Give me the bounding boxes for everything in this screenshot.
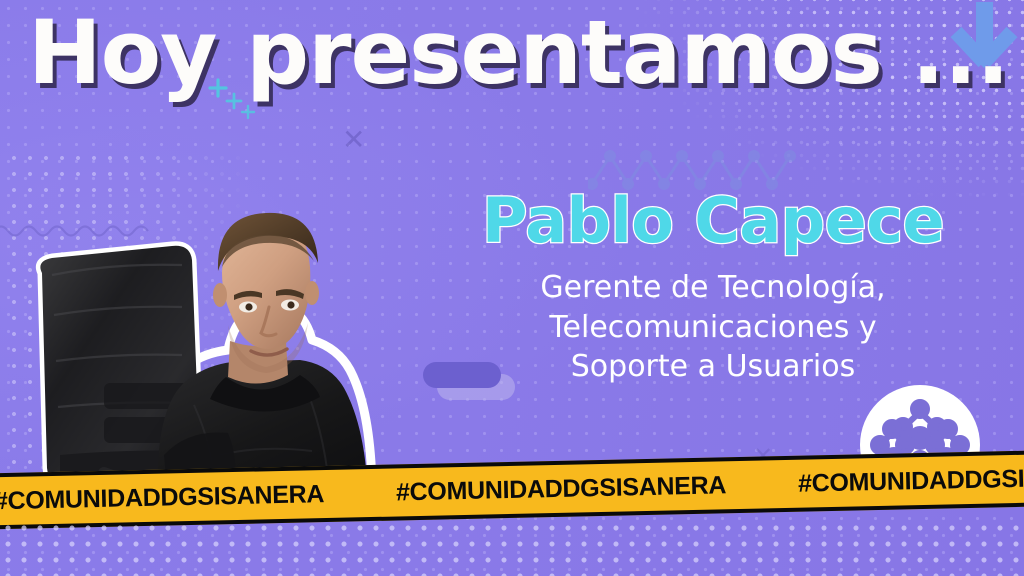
hashtag-item: #COMUNIDADDGSISANERA [798,462,1024,498]
speaker-role-line-1: Gerente de Tecnología, [430,268,996,308]
speaker-name: Pablo Capece [430,190,996,252]
speaker-role-line-2: Telecomunicaciones y [430,308,996,348]
page-title: Hoy presentamos ... [28,6,1008,99]
speaker-photo-illustration [8,155,438,500]
speaker-role-line-3: Soporte a Usuarios [430,347,996,387]
hashtag-ribbon-track: #COMUNIDADDGSISANERA #COMUNIDADDGSISANER… [0,462,1024,516]
hashtag-item: #COMUNIDADDGSISANERA [0,480,324,516]
speaker-role: Gerente de Tecnología, Telecomunicacione… [430,268,996,387]
speaker-block: Pablo Capece Gerente de Tecnología, Tele… [430,190,996,387]
hashtag-item: #COMUNIDADDGSISANERA [396,471,727,507]
speaker-photo [8,155,438,500]
slide-canvas: ✕ ✕ [0,0,1024,576]
polka-dot-pattern-bottom [0,520,1024,576]
